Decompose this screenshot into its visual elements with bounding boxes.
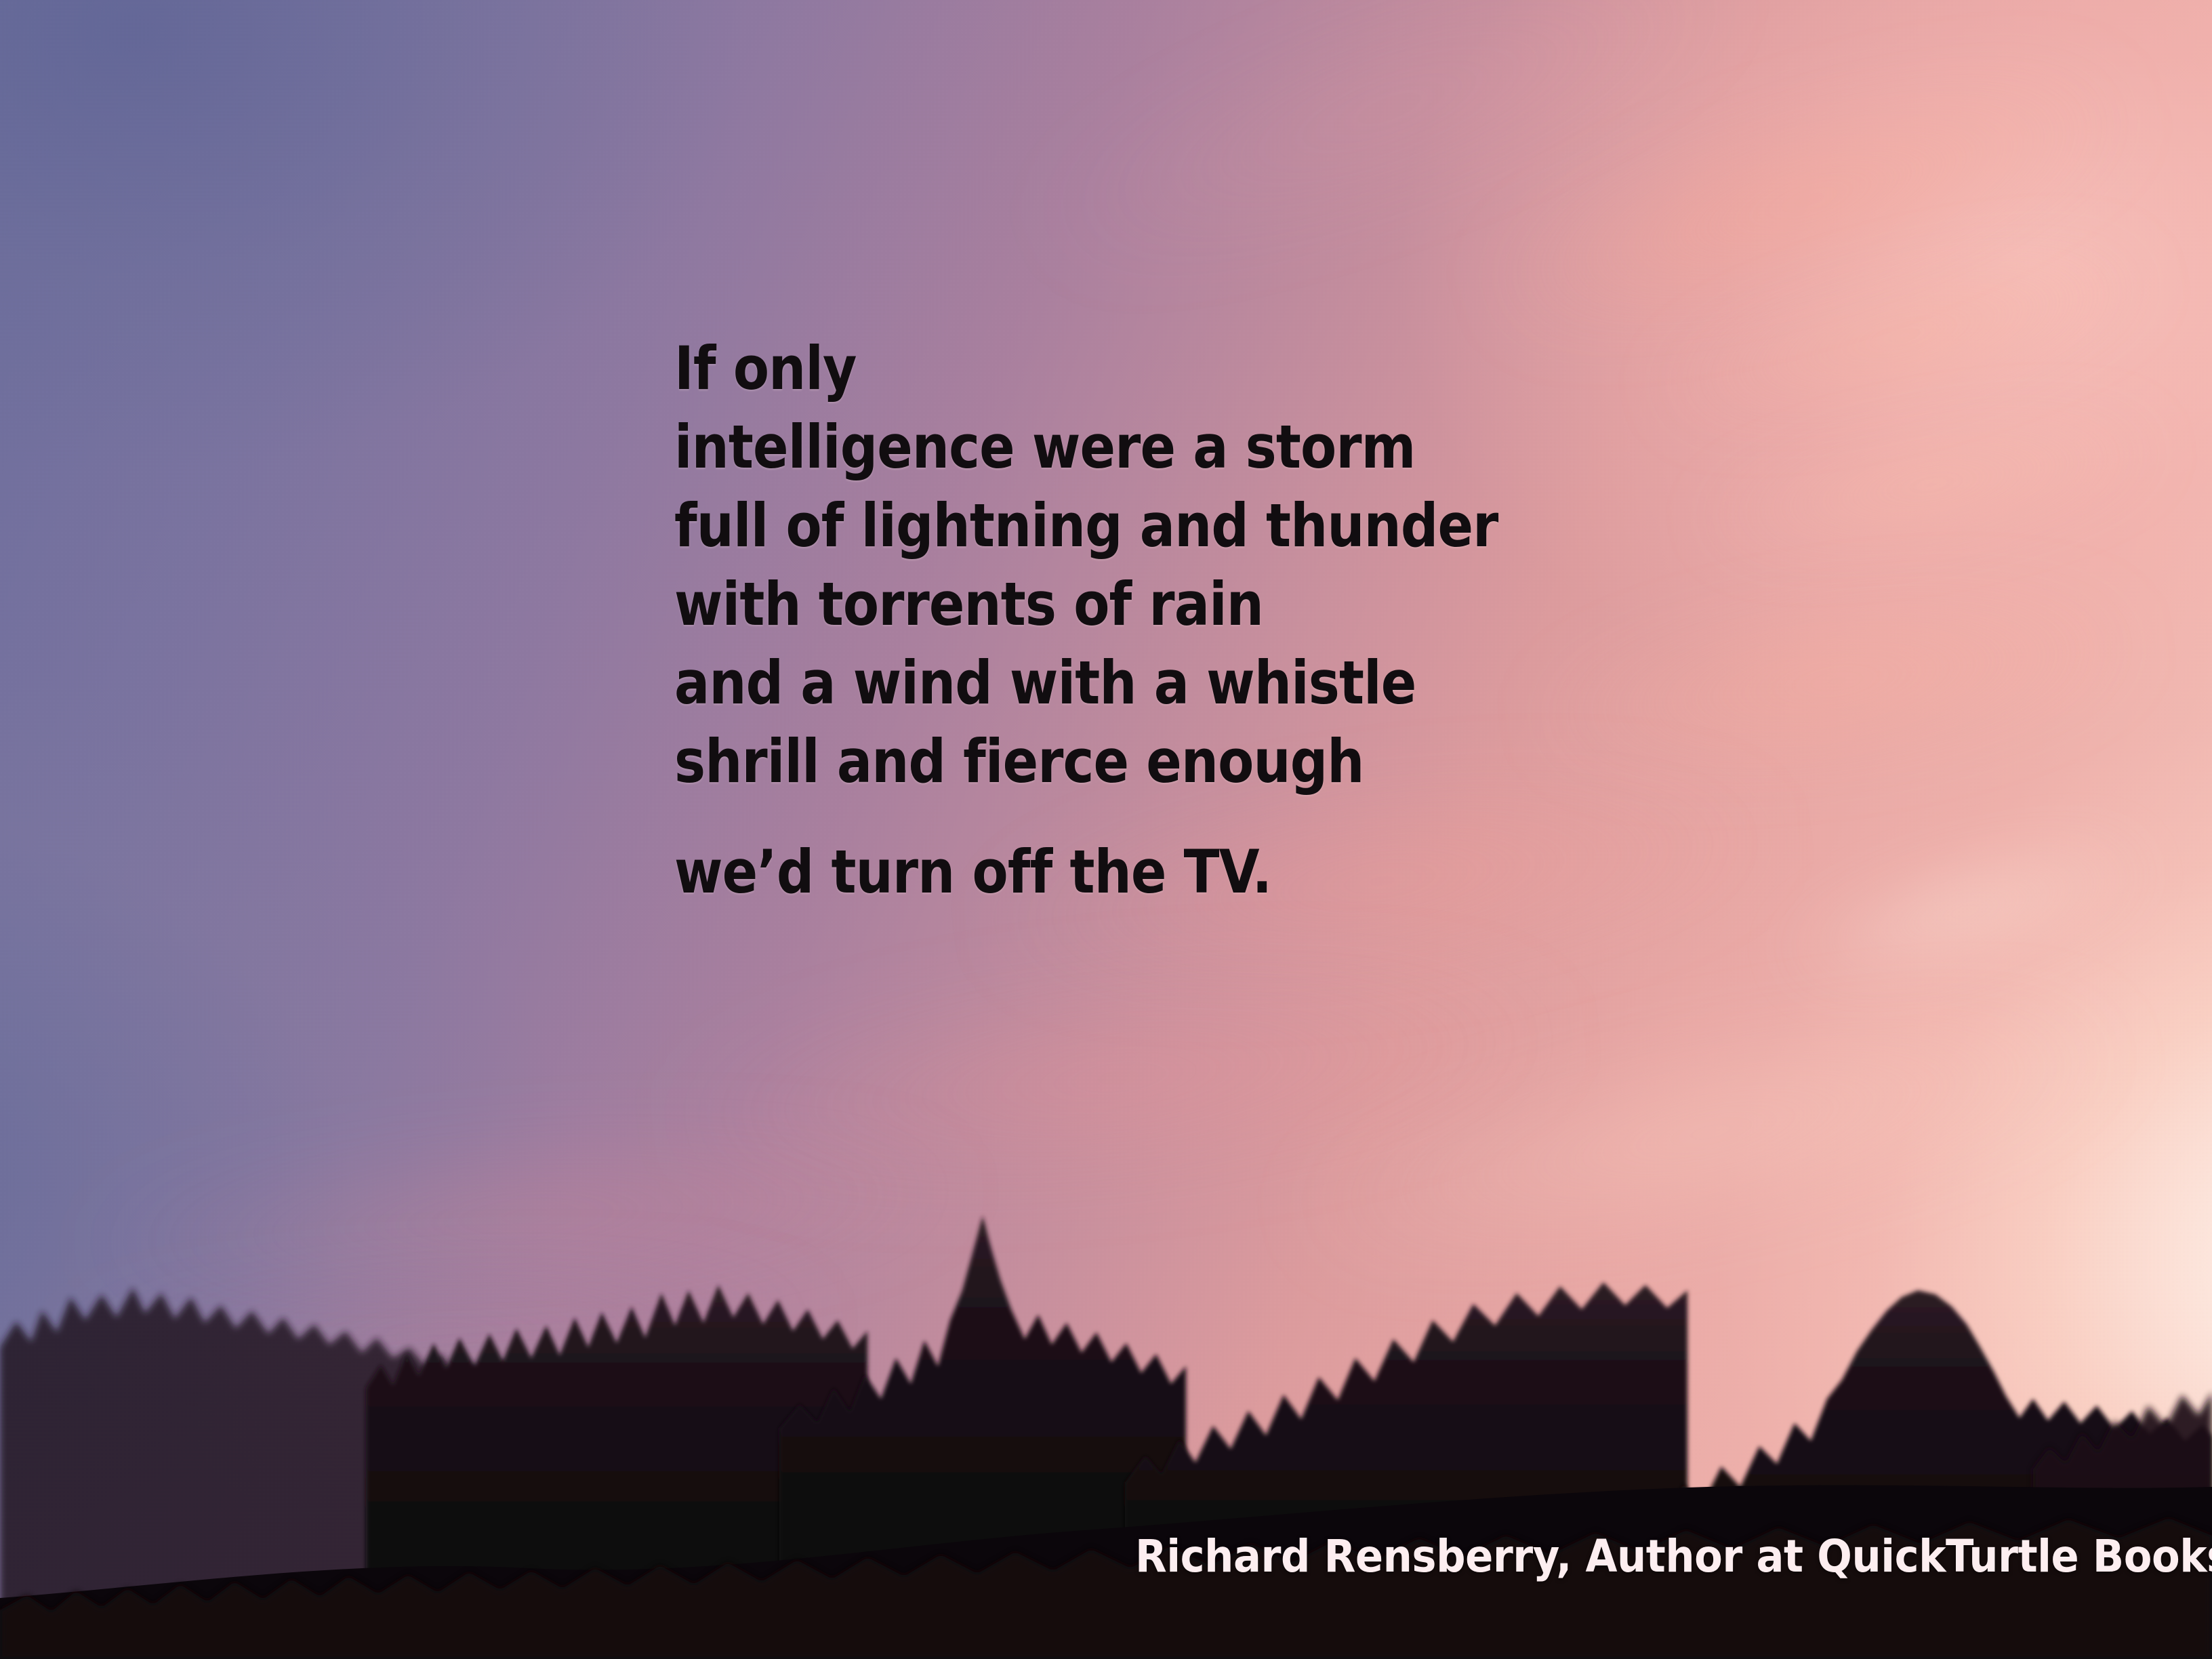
wisp-left-band-2 (39, 1260, 843, 1410)
tree-dome-right (1626, 1290, 2212, 1659)
poem-line: full of lightning and thunder (674, 496, 1897, 556)
wisp-left-band-1 (78, 1121, 979, 1312)
poem-line: If only (674, 339, 1897, 398)
tree-conifer-center (779, 1216, 1186, 1659)
poem-line-final: we’d turn off the TV. (674, 842, 1897, 902)
tree-cluster-far-right (2033, 1392, 2212, 1659)
wisp-upper-right-1 (1469, 28, 2150, 371)
poem-line: intelligence were a storm (674, 417, 1897, 477)
tree-cluster-far-left (0, 1288, 488, 1659)
wisp-top-faint (1016, 0, 1763, 300)
wisp-left-band-3 (202, 1358, 815, 1474)
tree-cluster-left (366, 1285, 867, 1659)
poem-image-canvas: If only intelligence were a storm full o… (0, 0, 2212, 1659)
poem-text-block: If only intelligence were a storm full o… (674, 339, 2064, 921)
tree-cluster-mid-right (1125, 1282, 1687, 1659)
poem-line: shrill and fierce enough (674, 732, 1897, 792)
poem-line: and a wind with a whistle (674, 653, 1897, 713)
attribution-credit: Richard Rensberry, Author at QuickTurtle… (1135, 1530, 2212, 1582)
poem-line: with torrents of rain (674, 575, 1897, 634)
wisp-horizon-right (1282, 970, 2141, 1292)
wisp-center-pink (657, 943, 1579, 1213)
